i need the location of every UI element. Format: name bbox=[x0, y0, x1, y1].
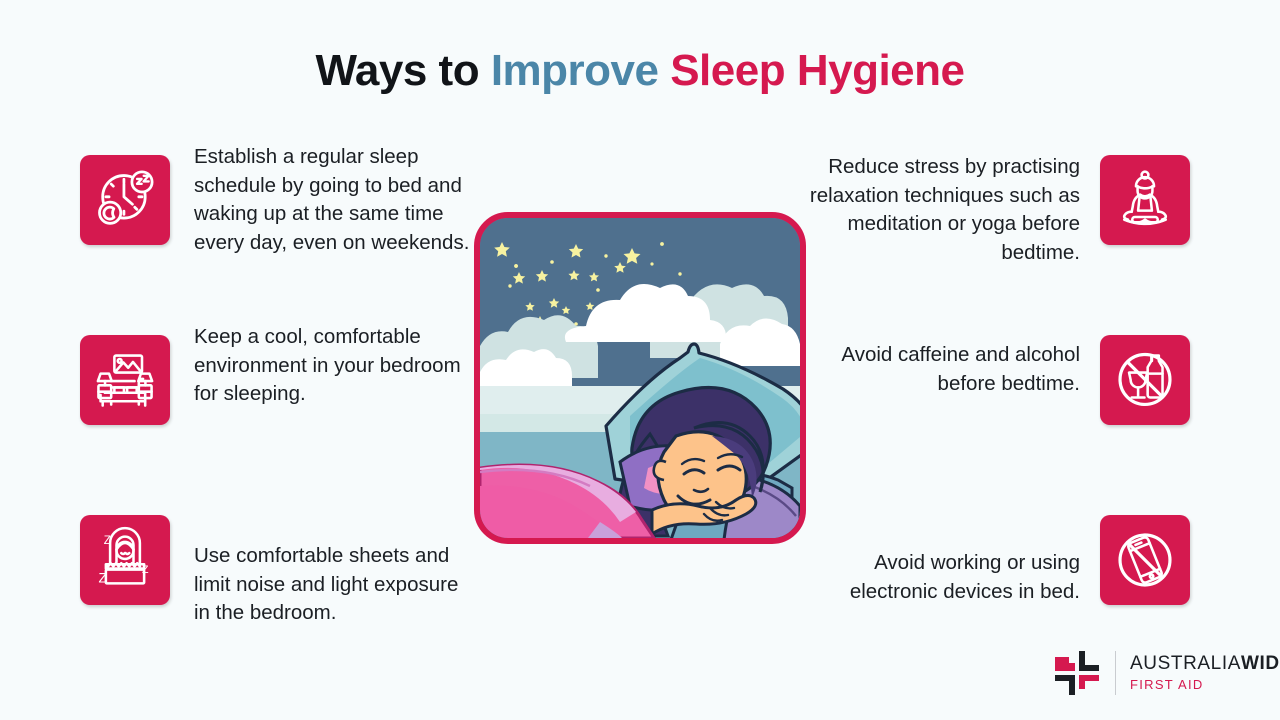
logo-name-bold: WIDE bbox=[1241, 653, 1280, 674]
cross-logo-glyph bbox=[1053, 649, 1101, 697]
page-title: Ways to Improve Sleep Hygiene bbox=[0, 46, 1280, 96]
clock-sleep-icon-tile bbox=[80, 155, 170, 245]
bedroom-bed-icon-tile bbox=[80, 335, 170, 425]
tip-item-sheets-noise-light: Z Z Z Use comfortable sheets and limit n… bbox=[80, 500, 480, 680]
sleeping-woman-illustration bbox=[474, 212, 806, 544]
person-sleeping-icon: Z Z Z bbox=[91, 526, 159, 594]
title-part-improve: Improve bbox=[491, 46, 670, 95]
svg-text:Z: Z bbox=[104, 534, 111, 547]
bedroom-bed-icon bbox=[91, 346, 159, 414]
no-alcohol-icon-tile bbox=[1100, 335, 1190, 425]
person-sleeping-icon-tile: Z Z Z bbox=[80, 515, 170, 605]
no-alcohol-icon bbox=[1111, 346, 1179, 414]
title-part-sleep-hygiene: Sleep Hygiene bbox=[670, 46, 964, 95]
tip-text: Avoid caffeine and alcohol before bedtim… bbox=[790, 341, 1080, 398]
tips-column-right: Reduce stress by practising relaxation t… bbox=[790, 140, 1190, 680]
sleeping-woman-night-sky-artwork bbox=[480, 218, 800, 538]
tip-item-relaxation: Reduce stress by practising relaxation t… bbox=[790, 140, 1190, 320]
logo-name-light: AUSTRALIA bbox=[1130, 653, 1241, 674]
tip-text: Use comfortable sheets and limit noise a… bbox=[194, 542, 476, 628]
no-phone-icon bbox=[1111, 526, 1179, 594]
logo-wordmark: AUSTRALIAWIDE FIRST AID bbox=[1130, 653, 1280, 693]
tip-item-sleep-schedule: Establish a regular sleep schedule by go… bbox=[80, 140, 480, 320]
tip-item-bedroom-environment: Keep a cool, comfortable environment in … bbox=[80, 320, 480, 500]
title-part-ways-to: Ways to bbox=[316, 46, 491, 95]
australia-wide-first-aid-logo: AUSTRALIAWIDE FIRST AID bbox=[1053, 647, 1280, 699]
tip-text: Reduce stress by practising relaxation t… bbox=[790, 153, 1080, 267]
logo-tagline: FIRST AID bbox=[1130, 676, 1280, 693]
tip-text: Keep a cool, comfortable environment in … bbox=[194, 323, 476, 409]
australia-wide-cross-logo-icon bbox=[1053, 649, 1101, 697]
meditation-yoga-icon-tile bbox=[1100, 155, 1190, 245]
clock-sleep-icon bbox=[91, 166, 159, 234]
tips-column-left: Establish a regular sleep schedule by go… bbox=[80, 140, 480, 680]
logo-company-name: AUSTRALIAWIDE bbox=[1130, 653, 1280, 674]
no-phone-icon-tile bbox=[1100, 515, 1190, 605]
tip-text: Establish a regular sleep schedule by go… bbox=[194, 143, 476, 257]
meditation-yoga-icon bbox=[1111, 166, 1179, 234]
logo-divider bbox=[1115, 651, 1116, 695]
tip-text: Avoid working or using electronic device… bbox=[790, 549, 1080, 606]
tip-item-no-caffeine-alcohol: Avoid caffeine and alcohol before bedtim… bbox=[790, 320, 1190, 500]
svg-text:Z: Z bbox=[142, 564, 149, 576]
svg-text:Z: Z bbox=[98, 569, 106, 585]
